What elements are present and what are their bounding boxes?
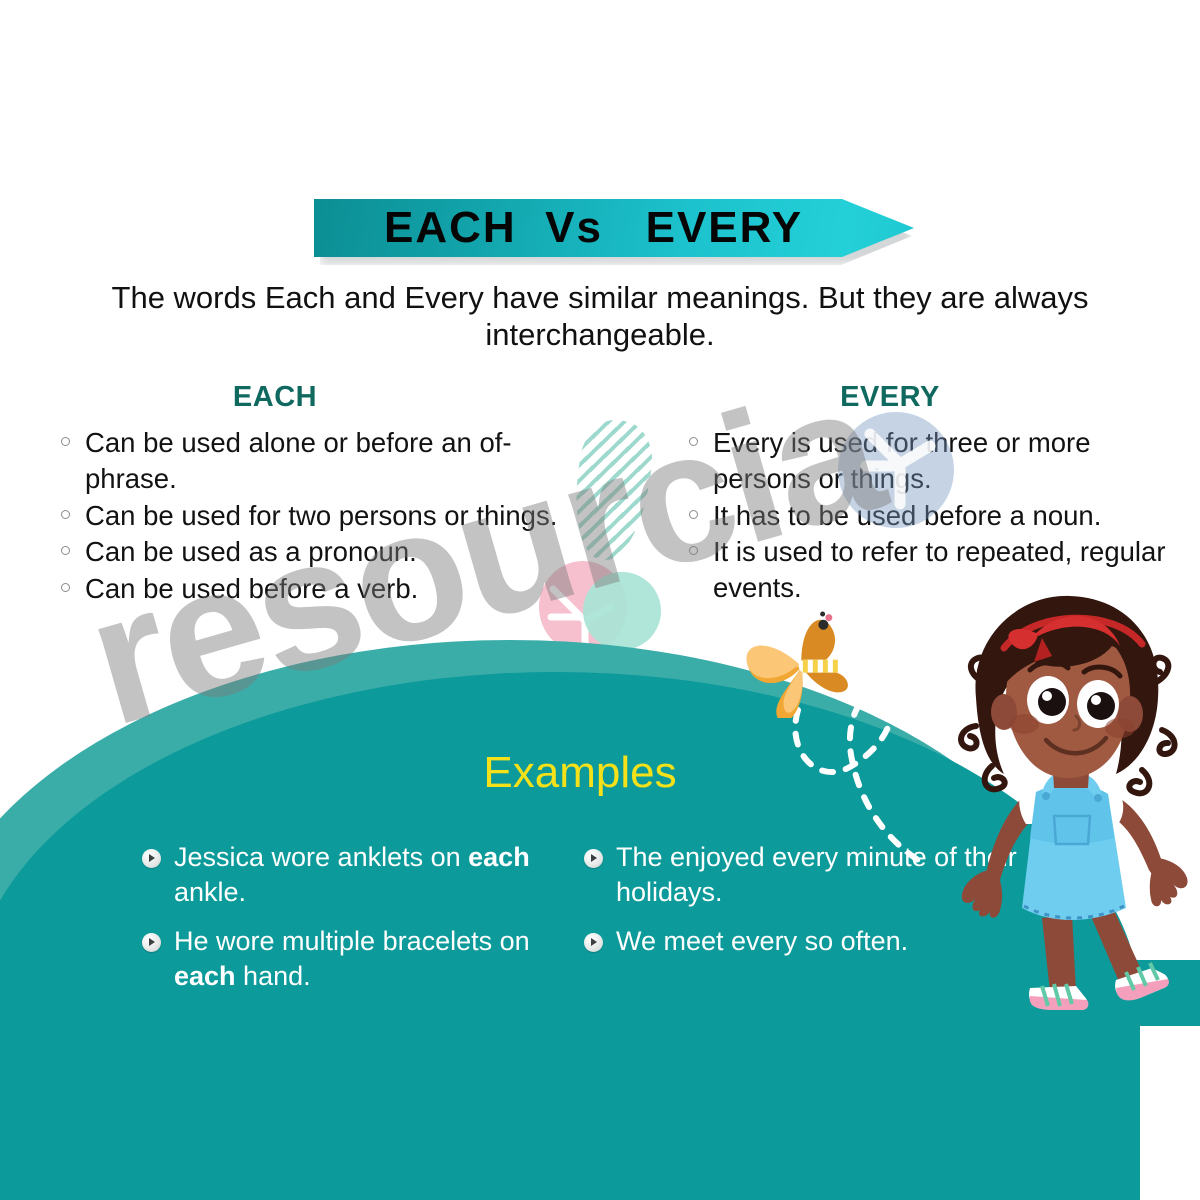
- mint-circle-decoration: [583, 572, 661, 650]
- list-item: Can be used alone or before an of-phrase…: [58, 425, 558, 497]
- examples-heading: Examples: [400, 748, 760, 798]
- example-text-suffix: hand.: [236, 961, 311, 991]
- example-text-prefix: We meet every so often.: [616, 926, 908, 956]
- butterfly-icon: [742, 608, 862, 718]
- play-bullet-icon: [142, 933, 161, 952]
- each-rules-list: Can be used alone or before an of-phrase…: [58, 425, 558, 608]
- hollow-circle-bullet-icon: [689, 437, 698, 446]
- list-item: Can be used as a pronoun.: [58, 534, 558, 570]
- column-heading-each: EACH: [150, 381, 400, 414]
- girl-illustration-icon: [930, 588, 1192, 1028]
- hollow-circle-bullet-icon: [61, 437, 70, 446]
- list-item-label: Can be used before a verb.: [85, 573, 418, 604]
- list-item: Can be used before a verb.: [58, 571, 558, 607]
- hollow-circle-bullet-icon: [61, 546, 70, 555]
- infographic-canvas: EACH Vs EVERY The words Each and Every h…: [0, 0, 1200, 1200]
- play-bullet-icon: [584, 849, 603, 868]
- list-item: It has to be used before a noun.: [686, 498, 1186, 534]
- play-bullet-icon: [584, 933, 603, 952]
- list-item: He wore multiple bracelets on each hand.: [140, 924, 560, 994]
- banner-shape: EACH Vs EVERY: [314, 199, 914, 257]
- list-item-label: It has to be used before a noun.: [713, 500, 1101, 531]
- every-rules-list: Every is used for three or more persons …: [686, 425, 1186, 607]
- example-text-prefix: Jessica wore anklets on: [174, 842, 468, 872]
- hollow-circle-bullet-icon: [689, 546, 698, 555]
- list-item-label: Every is used for three or more persons …: [713, 427, 1091, 494]
- list-item: Jessica wore anklets on each ankle.: [140, 840, 560, 910]
- column-heading-every: EVERY: [760, 381, 1020, 414]
- title-banner: EACH Vs EVERY: [314, 199, 914, 261]
- list-item-label: Can be used as a pronoun.: [85, 536, 417, 567]
- play-bullet-icon: [142, 849, 161, 868]
- list-item-label: Can be used alone or before an of-phrase…: [85, 427, 512, 494]
- list-item: Can be used for two persons or things.: [58, 498, 558, 534]
- page-title: EACH Vs EVERY: [384, 203, 803, 253]
- hollow-circle-bullet-icon: [61, 510, 70, 519]
- hollow-circle-bullet-icon: [689, 510, 698, 519]
- example-text-prefix: He wore multiple bracelets on: [174, 926, 530, 956]
- example-text-suffix: ankle.: [174, 877, 246, 907]
- example-text-bold: each: [468, 842, 530, 872]
- example-text-bold: each: [174, 961, 236, 991]
- list-item-label: Can be used for two persons or things.: [85, 500, 557, 531]
- examples-list-each: Jessica wore anklets on each ankle. He w…: [140, 840, 560, 1008]
- list-item: Every is used for three or more persons …: [686, 425, 1186, 497]
- hatched-leaf-decoration: [567, 416, 658, 565]
- hollow-circle-bullet-icon: [61, 583, 70, 592]
- subtitle-text: The words Each and Every have similar me…: [80, 280, 1120, 353]
